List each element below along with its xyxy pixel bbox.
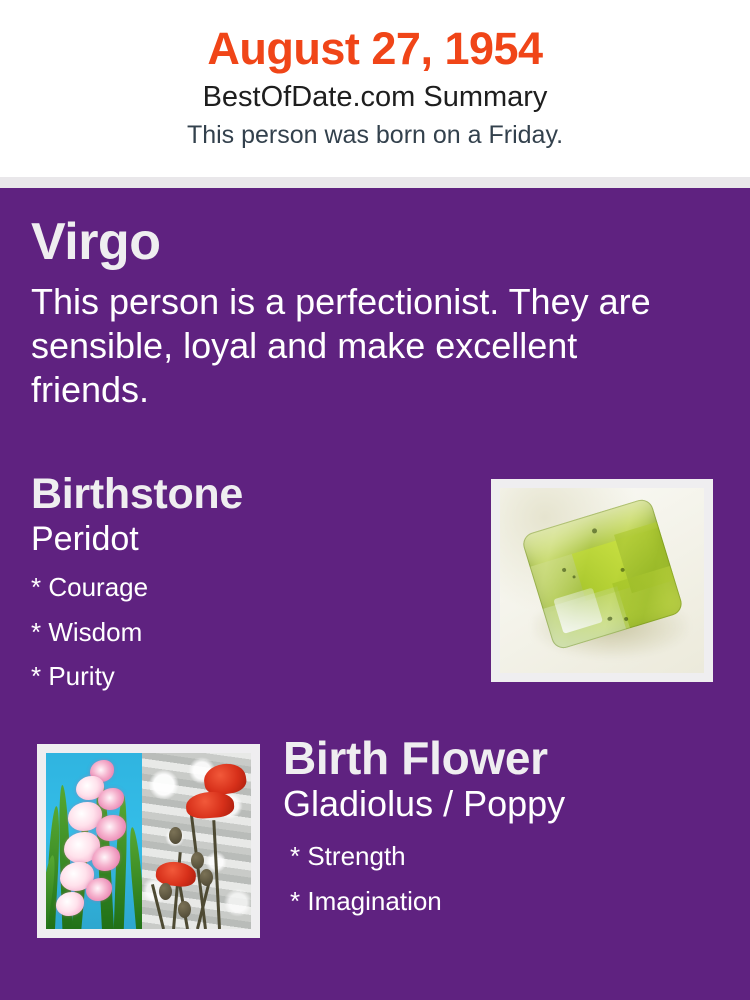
zodiac-section: Virgo This person is a perfectionist. Th… [31,216,691,412]
list-item: * Imagination [283,879,723,924]
birthstone-photo-frame [491,479,713,682]
infographic-page: August 27, 1954 BestOfDate.com Summary T… [0,0,750,1000]
born-day-note: This person was born on a Friday. [0,114,750,150]
gladiolus-bloom [96,815,126,841]
birthstone-title: Birthstone [31,472,461,517]
grass-blade [127,827,142,929]
birthstone-trait-list: * Courage * Wisdom * Purity [31,559,461,700]
zodiac-sign-title: Virgo [31,216,691,268]
gladiolus-pane [46,753,142,929]
header-divider [0,177,750,188]
list-item: * Wisdom [31,610,461,655]
poppy-pane [142,753,251,929]
header: August 27, 1954 BestOfDate.com Summary T… [0,0,750,177]
poppy-stem [213,820,222,929]
peridot-gemstone-image [500,488,704,673]
poppy-bud [178,901,191,918]
zodiac-description: This person is a perfectionist. They are… [31,268,691,412]
list-item: * Strength [283,834,723,879]
birth-flower-section: Birth Flower Gladiolus / Poppy * Strengt… [283,735,723,924]
list-item: * Purity [31,654,461,699]
poppy-flower [185,790,235,819]
poppy-bud [200,869,213,886]
gladiolus-poppy-image [46,753,251,929]
flower-split-panes [46,753,251,929]
page-title-date: August 27, 1954 [0,0,750,74]
birth-flower-photo-frame [37,744,260,938]
site-summary-label: BestOfDate.com Summary [0,74,750,114]
list-item: * Courage [31,565,461,610]
birth-flower-trait-list: * Strength * Imagination [283,824,723,924]
poppy-bud [191,852,204,869]
poppy-bud [159,883,172,900]
birth-flower-name: Gladiolus / Poppy [283,782,723,824]
birth-flower-title: Birth Flower [283,735,723,782]
birthstone-section: Birthstone Peridot * Courage * Wisdom * … [31,472,461,699]
poppy-bud [169,827,182,844]
birthstone-name: Peridot [31,517,461,558]
